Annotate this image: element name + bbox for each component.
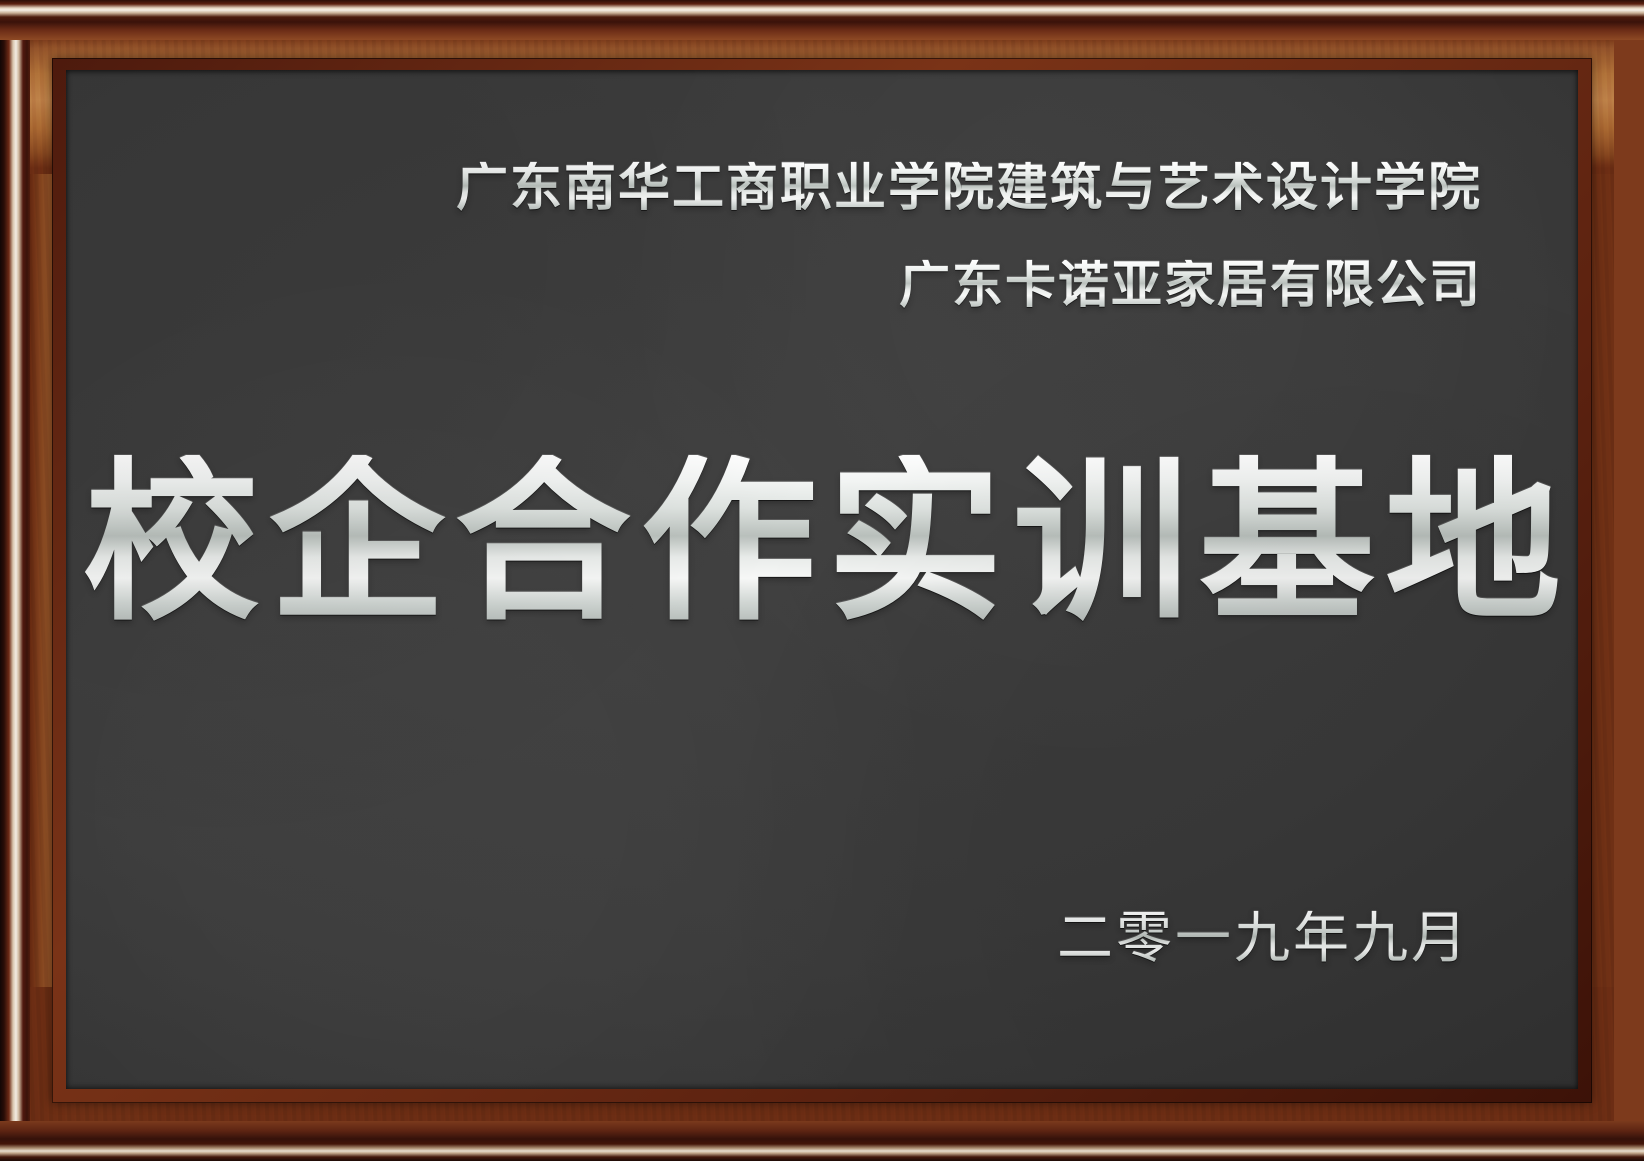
header-line-company: 广东卡诺亚家居有限公司	[66, 260, 1482, 311]
plaque-header: 广东南华工商职业学院建筑与艺术设计学院 广东卡诺亚家居有限公司	[66, 162, 1578, 311]
plaque-date: 二零一九年九月	[66, 911, 1470, 967]
header-line-institution: 广东南华工商职业学院建筑与艺术设计学院	[66, 162, 1482, 214]
frame-rim-bottom	[0, 1121, 1644, 1161]
frame-rim-top	[0, 0, 1644, 40]
plaque-date-block: 二零一九年九月	[66, 911, 1578, 967]
plaque-title: 校企合作实训基地	[66, 455, 1578, 631]
plaque-title-block: 校企合作实训基地	[66, 455, 1578, 631]
plaque-face: 广东南华工商职业学院建筑与艺术设计学院 广东卡诺亚家居有限公司 校企合作实训基地…	[66, 70, 1578, 1089]
award-plaque: 广东南华工商职业学院建筑与艺术设计学院 广东卡诺亚家居有限公司 校企合作实训基地…	[0, 0, 1644, 1161]
